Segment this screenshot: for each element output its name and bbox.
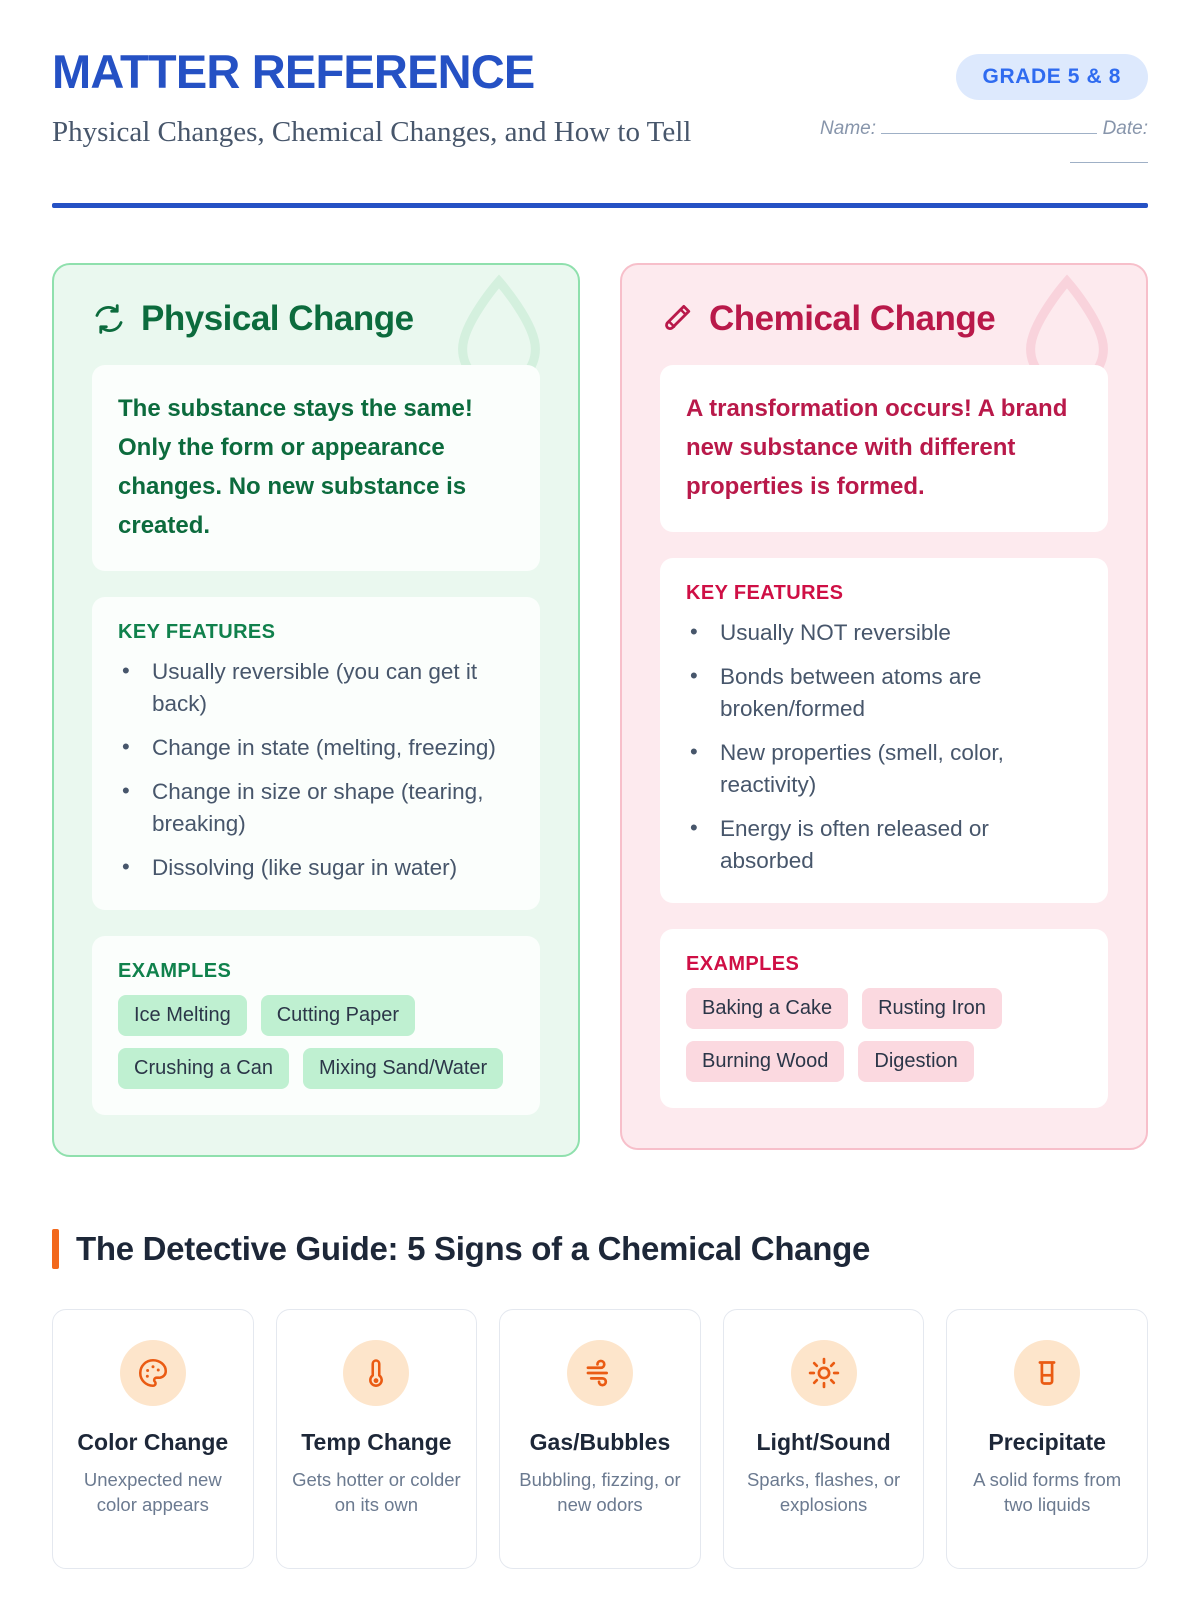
list-item: Change in size or shape (tearing, breaki…: [118, 776, 514, 840]
list-item: Change in state (melting, freezing): [118, 732, 514, 764]
beaker-icon: [1030, 1356, 1064, 1390]
detective-guide-header: The Detective Guide: 5 Signs of a Chemic…: [52, 1229, 1148, 1269]
sign-icon-bubble: [791, 1340, 857, 1406]
header-meta-block: GRADE 5 & 8 Name: Date:: [758, 48, 1148, 173]
chemical-examples-panel: EXAMPLES Baking a Cake Rusting Iron Burn…: [660, 929, 1108, 1108]
sign-card-color-change: Color Change Unexpected new color appear…: [52, 1309, 254, 1569]
example-chip: Rusting Iron: [862, 988, 1002, 1029]
chemical-features-list: Usually NOT reversible Bonds between ato…: [686, 617, 1082, 877]
physical-examples-label: EXAMPLES: [118, 960, 514, 983]
physical-definition-panel: The substance stays the same! Only the f…: [92, 365, 540, 571]
example-chip: Burning Wood: [686, 1041, 844, 1082]
sign-title: Color Change: [67, 1428, 239, 1456]
example-chip: Crushing a Can: [118, 1048, 289, 1089]
physical-change-card: Physical Change The substance stays the …: [52, 263, 580, 1157]
sign-title: Gas/Bubbles: [514, 1428, 686, 1456]
physical-example-chips: Ice Melting Cutting Paper Crushing a Can…: [118, 995, 514, 1089]
sign-description: Sparks, flashes, or explosions: [738, 1468, 910, 1518]
date-label: Date:: [1103, 118, 1148, 139]
name-date-field: Name: Date:: [758, 114, 1148, 173]
chemical-change-card: Chemical Change A transformation occurs!…: [620, 263, 1148, 1150]
sign-card-precipitate: Precipitate A solid forms from two liqui…: [946, 1309, 1148, 1569]
list-item: Usually NOT reversible: [686, 617, 1082, 649]
wind-icon: [583, 1356, 617, 1390]
chemical-card-title: Chemical Change: [709, 299, 995, 339]
sign-icon-bubble: [343, 1340, 409, 1406]
name-write-line[interactable]: [881, 133, 1097, 134]
physical-features-list: Usually reversible (you can get it back)…: [118, 656, 514, 884]
sign-icon-bubble: [567, 1340, 633, 1406]
physical-definition-text: The substance stays the same! Only the f…: [118, 389, 514, 545]
physical-examples-panel: EXAMPLES Ice Melting Cutting Paper Crush…: [92, 936, 540, 1115]
physical-card-header: Physical Change: [92, 299, 540, 339]
sun-icon: [807, 1356, 841, 1390]
sign-icon-bubble: [120, 1340, 186, 1406]
list-item: Bonds between atoms are broken/formed: [686, 661, 1082, 725]
chemical-definition-text: A transformation occurs! A brand new sub…: [686, 389, 1082, 506]
header-divider: [52, 203, 1148, 208]
sign-card-temp-change: Temp Change Gets hotter or colder on its…: [276, 1309, 478, 1569]
physical-card-title: Physical Change: [141, 299, 414, 339]
physical-features-panel: KEY FEATURES Usually reversible (you can…: [92, 597, 540, 910]
example-chip: Baking a Cake: [686, 988, 848, 1029]
list-item: Energy is often released or absorbed: [686, 813, 1082, 877]
thermometer-icon: [359, 1356, 393, 1390]
sign-description: A solid forms from two liquids: [961, 1468, 1133, 1518]
example-chip: Ice Melting: [118, 995, 247, 1036]
example-chip: Mixing Sand/Water: [303, 1048, 503, 1089]
sign-description: Unexpected new color appears: [67, 1468, 239, 1518]
page-subtitle: Physical Changes, Chemical Changes, and …: [52, 113, 691, 152]
example-chip: Digestion: [858, 1041, 973, 1082]
sign-icon-bubble: [1014, 1340, 1080, 1406]
refresh-cycle-icon: [92, 302, 126, 336]
chemical-features-label: KEY FEATURES: [686, 582, 1082, 605]
header-title-block: MATTER REFERENCE Physical Changes, Chemi…: [52, 48, 691, 152]
chemical-features-panel: KEY FEATURES Usually NOT reversible Bond…: [660, 558, 1108, 903]
list-item: Dissolving (like sugar in water): [118, 852, 514, 884]
chemical-definition-panel: A transformation occurs! A brand new sub…: [660, 365, 1108, 532]
sign-description: Bubbling, fizzing, or new odors: [514, 1468, 686, 1518]
chemical-card-header: Chemical Change: [660, 299, 1108, 339]
section-accent-bar: [52, 1229, 59, 1269]
sign-title: Precipitate: [961, 1428, 1133, 1456]
page-title: MATTER REFERENCE: [52, 48, 691, 95]
sign-card-gas-bubbles: Gas/Bubbles Bubbling, fizzing, or new od…: [499, 1309, 701, 1569]
page-header: MATTER REFERENCE Physical Changes, Chemi…: [52, 48, 1148, 173]
reference-sheet-page: MATTER REFERENCE Physical Changes, Chemi…: [0, 0, 1200, 1600]
sign-title: Light/Sound: [738, 1428, 910, 1456]
sign-title: Temp Change: [291, 1428, 463, 1456]
test-tube-icon: [660, 302, 694, 336]
date-write-line[interactable]: [1070, 162, 1148, 163]
example-chip: Cutting Paper: [261, 995, 415, 1036]
list-item: Usually reversible (you can get it back): [118, 656, 514, 720]
sign-description: Gets hotter or colder on its own: [291, 1468, 463, 1518]
chemical-example-chips: Baking a Cake Rusting Iron Burning Wood …: [686, 988, 1082, 1082]
chemical-examples-label: EXAMPLES: [686, 953, 1082, 976]
palette-icon: [136, 1356, 170, 1390]
signs-row: Color Change Unexpected new color appear…: [52, 1309, 1148, 1569]
list-item: New properties (smell, color, reactivity…: [686, 737, 1082, 801]
comparison-row: Physical Change The substance stays the …: [52, 263, 1148, 1157]
physical-features-label: KEY FEATURES: [118, 621, 514, 644]
name-label: Name:: [820, 118, 876, 139]
detective-guide-title: The Detective Guide: 5 Signs of a Chemic…: [76, 1230, 870, 1268]
grade-badge: GRADE 5 & 8: [956, 54, 1148, 100]
sign-card-light-sound: Light/Sound Sparks, flashes, or explosio…: [723, 1309, 925, 1569]
detective-guide-section: The Detective Guide: 5 Signs of a Chemic…: [52, 1229, 1148, 1569]
